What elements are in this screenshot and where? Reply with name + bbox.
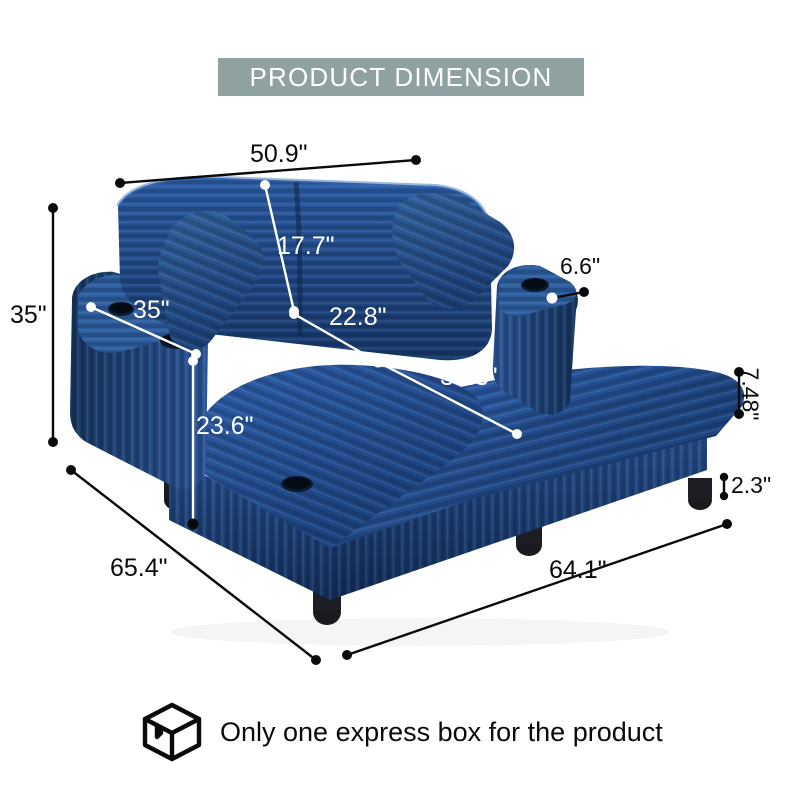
dimension-label-armrest-width: 6.6"	[560, 255, 600, 278]
dimension-label-height-left: 35"	[10, 303, 47, 328]
dimension-label-width-top: 50.9"	[250, 142, 308, 167]
dimension-label-depth-front: 65.4"	[110, 556, 168, 581]
dimension-label-seat-depth-upper: 22.8"	[329, 305, 387, 330]
dimension-line-armrest-width	[547, 287, 589, 303]
dimension-label-backrest-height: 17.7"	[277, 234, 335, 259]
dimension-line-leg-height	[720, 473, 728, 500]
dimension-label-cushion-thickness: 7.48"	[739, 368, 762, 421]
product-dimension-diagram: PRODUCT DIMENSION	[0, 0, 800, 800]
dimension-label-seat-height: 23.6"	[196, 414, 254, 439]
shipping-note-text: Only one express box for the product	[220, 717, 663, 748]
dimension-line-seat-height	[188, 356, 199, 530]
dimension-label-seat-depth-lower: 30.3"	[440, 365, 498, 390]
dimension-label-armrest-depth: 35"	[133, 298, 170, 323]
dimension-label-width-base: 64.1"	[549, 558, 607, 583]
dimension-lines	[0, 0, 800, 800]
shipping-note: Only one express box for the product	[140, 698, 700, 766]
dimension-line-width-base	[342, 519, 732, 660]
package-box-icon	[140, 701, 204, 763]
dimension-line-height-left	[48, 203, 58, 447]
dimension-label-leg-height: 2.3"	[731, 474, 771, 497]
